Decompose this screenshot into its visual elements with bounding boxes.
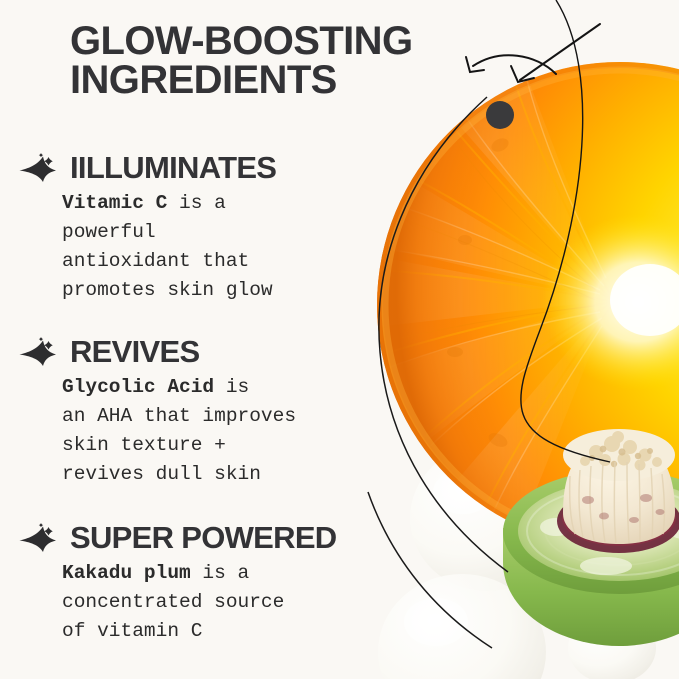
section-heading-row: IILLUMINATES	[18, 148, 276, 186]
section-heading: REVIVES	[70, 336, 199, 367]
section-heading: IILLUMINATES	[70, 152, 276, 183]
section-heading-row: SUPER POWERED	[18, 518, 337, 556]
section-body: Kakadu plum is a concentrated source of …	[62, 559, 337, 646]
sparkle-icon	[18, 335, 65, 367]
page-title: GLOW-BOOSTING INGREDIENTS	[70, 22, 490, 100]
ingredient-name: Kakadu plum	[62, 562, 191, 584]
ingredient-section-illuminates: IILLUMINATES Vitamic C is a powerful ant…	[18, 148, 276, 305]
sparkle-icon	[18, 151, 65, 183]
section-heading: SUPER POWERED	[70, 522, 337, 553]
ingredient-name: Vitamic C	[62, 192, 167, 214]
product-infographic: GLOW-BOOSTING INGREDIENTS IILLUMINATES V…	[0, 0, 679, 679]
ingredient-section-super-powered: SUPER POWERED Kakadu plum is a concentra…	[18, 518, 337, 646]
ingredient-name: Glycolic Acid	[62, 376, 214, 398]
section-body: Glycolic Acid is an AHA that improves sk…	[62, 373, 296, 489]
section-body: Vitamic C is a powerful antioxidant that…	[62, 189, 276, 305]
sparkle-icon	[18, 521, 65, 553]
section-heading-row: REVIVES	[18, 332, 296, 370]
ingredient-section-revives: REVIVES Glycolic Acid is an AHA that imp…	[18, 332, 296, 489]
